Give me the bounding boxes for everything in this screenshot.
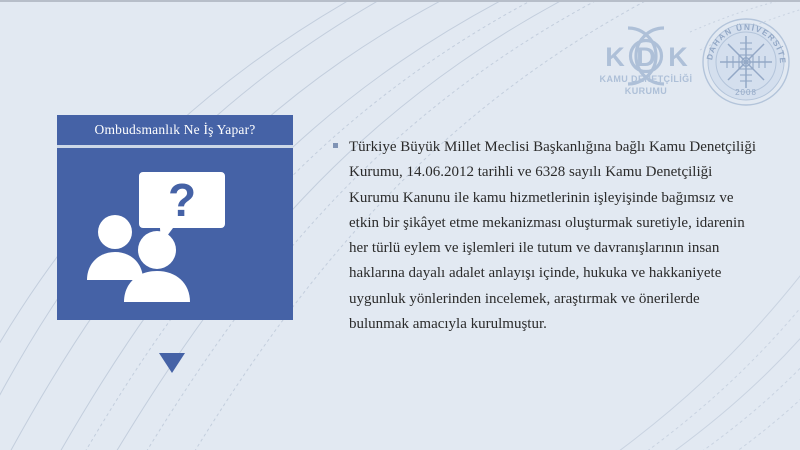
body-paragraph: Türkiye Büyük Millet Meclisi Başkanlığın…	[349, 135, 763, 337]
people-question-illustration-icon: ?	[81, 166, 269, 306]
kdk-wordmark-line1: KAMU DENETÇİLİĞİ	[598, 74, 694, 84]
callout-header: Ombudsmanlık Ne İş Yapar?	[57, 115, 293, 145]
callout-card: Ombudsmanlık Ne İş Yapar? ?	[57, 115, 293, 320]
question-mark-glyph: ?	[168, 174, 196, 226]
slide-canvas: K D K KAMU DENETÇİLİĞİ KURUMU ARDAHAN ÜN…	[0, 0, 800, 450]
callout-body: ?	[57, 148, 293, 320]
kdk-letter-d: D	[636, 42, 656, 72]
ardahan-university-seal: ARDAHAN ÜNİVERSİTESİ 2008	[700, 16, 792, 108]
callout-tail	[159, 353, 185, 373]
body-text-block: Türkiye Büyük Millet Meclisi Başkanlığın…	[333, 135, 763, 337]
seal-year: 2008	[735, 88, 757, 97]
kdk-letter-k1: K	[605, 42, 625, 72]
university-seal-icon: ARDAHAN ÜNİVERSİTESİ 2008	[700, 16, 792, 108]
kdk-letter-k2: K	[668, 42, 688, 72]
kdk-wordmark-line2: KURUMU	[598, 86, 694, 96]
kdk-logo: K D K KAMU DENETÇİLİĞİ KURUMU	[598, 16, 694, 108]
callout-title: Ombudsmanlık Ne İş Yapar?	[95, 122, 256, 138]
bullet-marker-icon	[333, 143, 338, 148]
logo-row: K D K KAMU DENETÇİLİĞİ KURUMU ARDAHAN ÜN…	[598, 16, 792, 108]
